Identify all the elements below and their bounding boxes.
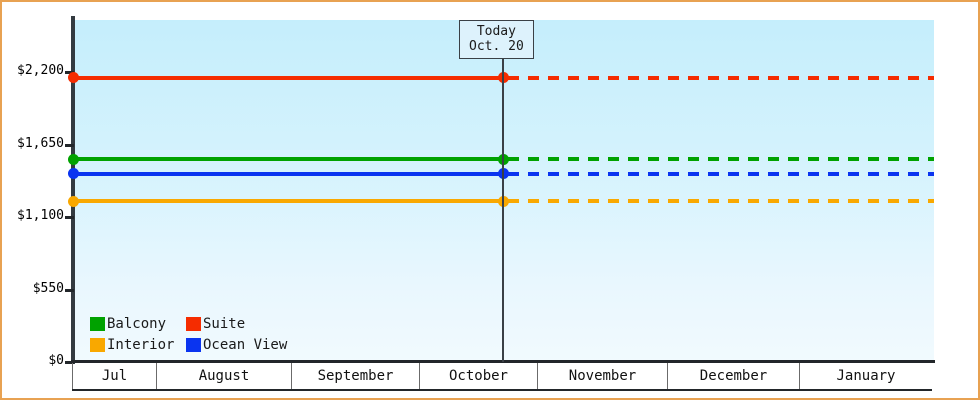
y-tick-label: $1,100: [2, 208, 64, 223]
month-label: December: [700, 368, 767, 384]
today-label-line1: Today: [469, 24, 524, 39]
legend-item[interactable]: Balcony: [90, 316, 186, 332]
series-point-marker: [68, 154, 79, 165]
series-line-solid: [74, 76, 504, 80]
y-tick-label: $1,650: [2, 136, 64, 151]
month-label: October: [449, 368, 508, 384]
y-tick-label: $550: [2, 281, 64, 296]
price-trend-chart: $2,200$1,650$1,100$550$0 Today Oct. 20 B…: [0, 0, 980, 400]
y-tick-label: $2,200: [2, 63, 64, 78]
month-cell[interactable]: Jul: [72, 363, 157, 389]
legend-label: Balcony: [106, 316, 166, 332]
plot-area: [74, 20, 934, 362]
month-axis-band: JulAugustSeptemberOctoberNovemberDecembe…: [72, 363, 932, 391]
legend-swatch-icon: [90, 317, 105, 331]
legend: BalconySuiteInteriorOcean View: [90, 313, 287, 355]
legend-swatch-icon: [186, 338, 201, 352]
legend-item[interactable]: Interior: [90, 337, 186, 353]
month-cell[interactable]: January: [800, 363, 932, 389]
series-point-marker: [68, 168, 79, 179]
legend-swatch-icon: [90, 338, 105, 352]
legend-item[interactable]: Ocean View: [186, 337, 287, 353]
month-cell[interactable]: November: [538, 363, 668, 389]
y-tick-mark: [65, 216, 74, 219]
y-tick-label: $0: [2, 353, 64, 368]
series-line-solid: [74, 199, 504, 203]
month-cell[interactable]: September: [292, 363, 420, 389]
legend-label: Suite: [202, 316, 245, 332]
today-label-line2: Oct. 20: [469, 39, 524, 54]
today-vertical-line: [502, 20, 504, 362]
legend-swatch-icon: [186, 317, 201, 331]
y-tick-mark: [65, 144, 74, 147]
y-axis: [71, 16, 75, 364]
month-cell[interactable]: December: [668, 363, 800, 389]
today-callout: Today Oct. 20: [459, 20, 534, 59]
month-label: September: [318, 368, 394, 384]
month-label: November: [569, 368, 636, 384]
series-line-solid: [74, 172, 504, 176]
month-label: January: [836, 368, 895, 384]
month-label: August: [199, 368, 250, 384]
series-line-dashed-forecast: [508, 199, 934, 203]
legend-label: Ocean View: [202, 337, 287, 353]
series-line-solid: [74, 157, 504, 161]
series-line-dashed-forecast: [508, 76, 934, 80]
month-label: Jul: [102, 368, 127, 384]
series-line-dashed-forecast: [508, 157, 934, 161]
month-cell[interactable]: October: [420, 363, 538, 389]
series-point-marker: [68, 196, 79, 207]
legend-label: Interior: [106, 337, 174, 353]
y-tick-mark: [65, 289, 74, 292]
series-line-dashed-forecast: [508, 172, 934, 176]
month-cell[interactable]: August: [157, 363, 292, 389]
legend-item[interactable]: Suite: [186, 316, 287, 332]
